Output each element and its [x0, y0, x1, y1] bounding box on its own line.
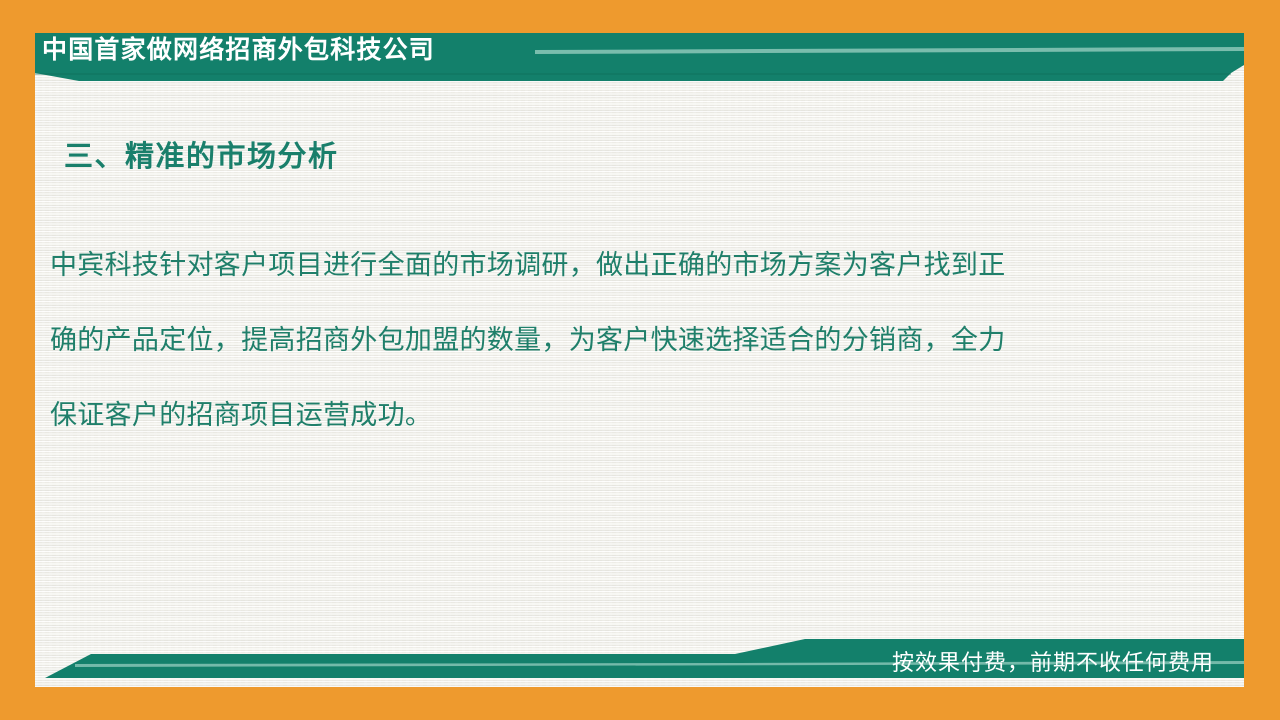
body-line-2: 确的产品定位，提高招商外包加盟的数量，为客户快速选择适合的分销商，全力: [50, 303, 1190, 378]
header-banner-shadow-edge: [35, 73, 1231, 75]
body-line-1: 中宾科技针对客户项目进行全面的市场调研，做出正确的市场方案为客户找到正: [50, 228, 1190, 303]
footer-slogan: 按效果付费，前期不收任何费用: [892, 648, 1214, 678]
section-title: 三、精准的市场分析: [64, 138, 339, 176]
body-paragraph: 中宾科技针对客户项目进行全面的市场调研，做出正确的市场方案为客户找到正 确的产品…: [50, 228, 1190, 453]
slide-canvas: 中国首家做网络招商外包科技公司 三、精准的市场分析 中宾科技针对客户项目进行全面…: [0, 0, 1280, 720]
header-title: 中国首家做网络招商外包科技公司: [42, 35, 435, 65]
body-line-3: 保证客户的招商项目运营成功。: [50, 378, 1190, 453]
